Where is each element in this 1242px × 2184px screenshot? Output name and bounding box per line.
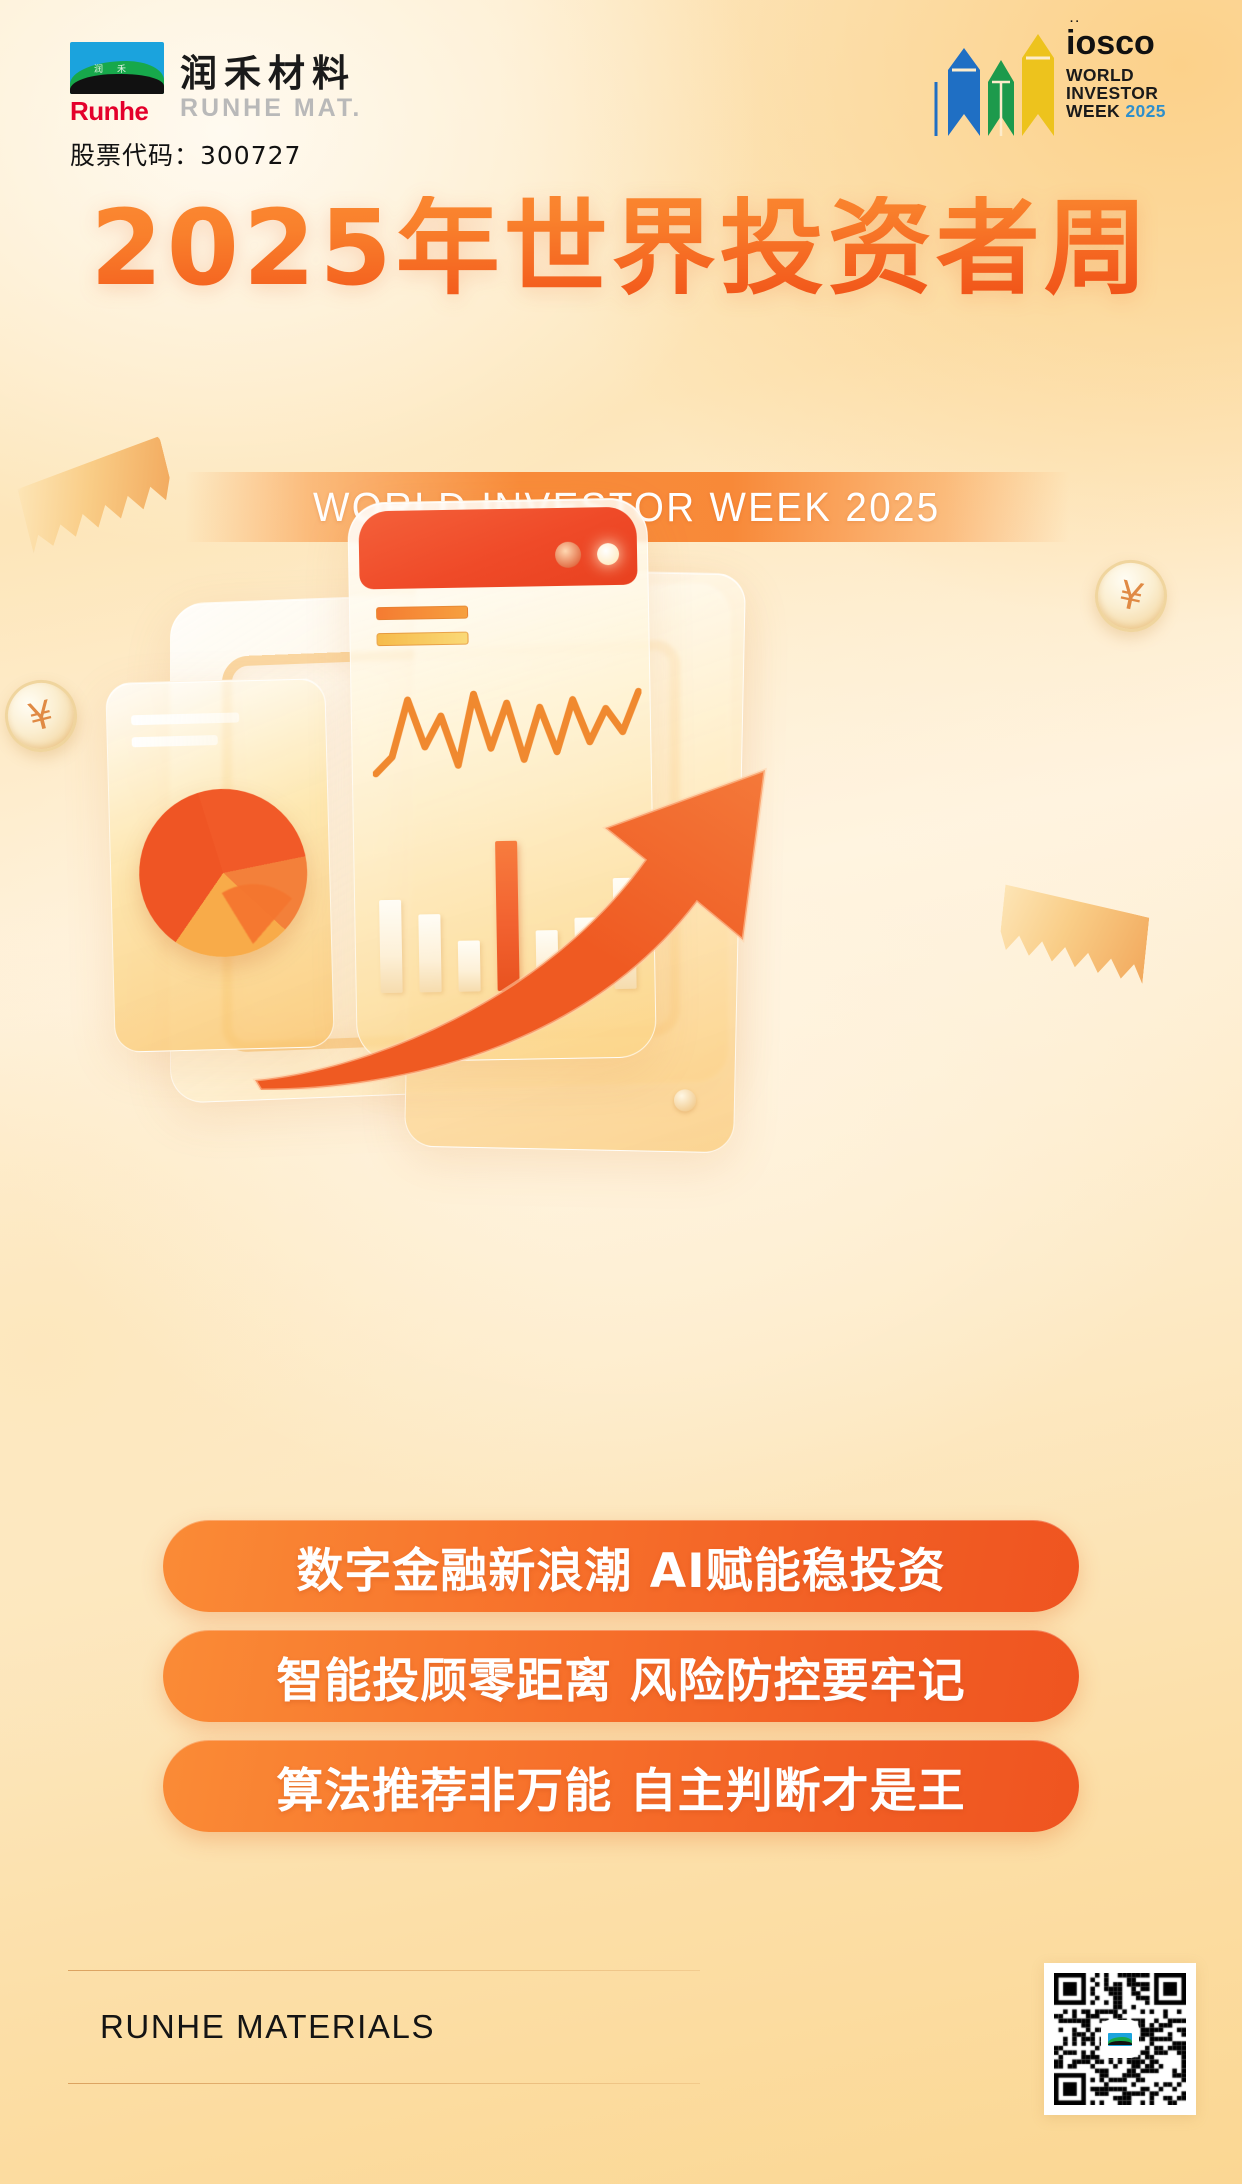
brand-row: 润禾 Runhe 润禾材料 RUNHE MAT. [70, 42, 362, 124]
wiw-line-week: WEEK 2025 [1066, 103, 1200, 121]
message-bar[interactable]: 算法推荐非万能 自主判断才是王 [163, 1740, 1079, 1832]
tablet-home-dot-icon [674, 1089, 696, 1111]
iosco-wiw-logo: ··iosco WORLD INVESTOR WEEK 2025 [930, 26, 1200, 136]
company-brand-block: 润禾 Runhe 润禾材料 RUNHE MAT. 股票代码：300727 [70, 42, 362, 172]
phone-topbar [358, 507, 637, 590]
footer-divider-top [68, 1970, 700, 1971]
message-bar-text: 数字金融新浪潮 AI赋能稳投资 [296, 1532, 945, 1601]
banknote-ribbon-bottom-right [999, 882, 1150, 984]
poster-footer: RUNHE MATERIALS [0, 1940, 1242, 2184]
qr-center-logo-mark-icon [1108, 2033, 1132, 2046]
footer-brand-label: RUNHE MATERIALS [100, 2008, 435, 2046]
poster-title-cn: 2025年世界投资者周 [0, 196, 1242, 300]
phone-stat-pill-2 [376, 632, 468, 647]
iosco-pencils-icon [930, 30, 1060, 136]
wiw-year: 2025 [1125, 101, 1166, 121]
runhe-logo-mark-icon: 润禾 [70, 42, 164, 94]
growth-arrow-icon [245, 750, 805, 1090]
yuan-coin-left-icon: ¥ [0, 672, 85, 759]
message-bar-text: 智能投顾零距离 风险防控要牢记 [276, 1642, 965, 1711]
footer-divider-bottom [68, 2083, 700, 2084]
pie-card-line-1 [131, 712, 239, 725]
iosco-word-text: iosco [1066, 24, 1155, 62]
message-bar[interactable]: 智能投顾零距离 风险防控要牢记 [163, 1630, 1079, 1722]
poster-header: 润禾 Runhe 润禾材料 RUNHE MAT. 股票代码：300727 [0, 0, 1242, 170]
iosco-dots: ·· [1070, 17, 1081, 28]
brand-names: 润禾材料 RUNHE MAT. [180, 55, 362, 124]
wiw-week-text: WEEK [1066, 101, 1120, 121]
message-bar-text: 算法推荐非万能 自主判断才是王 [276, 1752, 965, 1821]
wiw-lines: WORLD INVESTOR WEEK 2025 [1066, 67, 1200, 121]
phone-camera-icon [555, 542, 581, 568]
pie-card-line-2 [132, 735, 218, 747]
phone-stat-pill-1 [376, 606, 468, 621]
stock-code-label: 股票代码：300727 [70, 136, 362, 172]
qr-code[interactable] [1044, 1963, 1196, 2115]
qr-center-logo [1103, 2022, 1137, 2056]
phone-flash-icon [597, 543, 619, 565]
logo-flag-chars: 润禾 [70, 62, 164, 75]
brand-name-en: RUNHE MAT. [180, 95, 362, 123]
message-bar[interactable]: 数字金融新浪潮 AI赋能稳投资 [163, 1520, 1079, 1612]
brand-name-cn: 润禾材料 [180, 55, 362, 94]
iosco-wordmark: ··iosco [1066, 26, 1200, 60]
banknote-ribbon-top-left [17, 432, 174, 554]
runhe-wordmark: Runhe [70, 98, 164, 124]
yuan-coin-right-icon: ¥ [1088, 553, 1173, 638]
iosco-textblock: ··iosco WORLD INVESTOR WEEK 2025 [1066, 26, 1200, 121]
hero-illustration: ¥ ¥ [0, 580, 1242, 1510]
message-bar-list: 数字金融新浪潮 AI赋能稳投资智能投顾零距离 风险防控要牢记算法推荐非万能 自主… [0, 1520, 1242, 1850]
runhe-logo: 润禾 Runhe [70, 42, 164, 124]
